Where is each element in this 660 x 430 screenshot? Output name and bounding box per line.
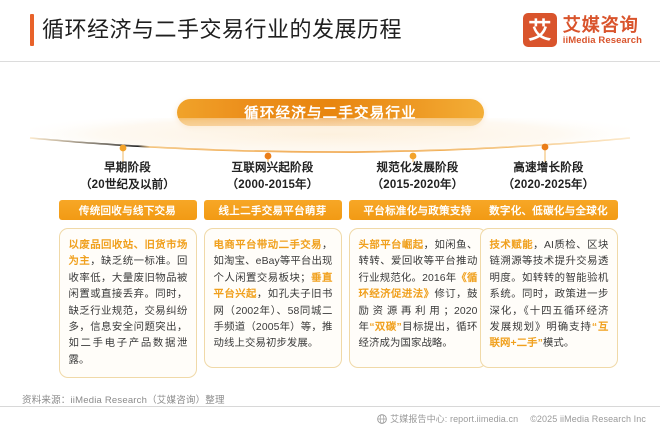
infographic-page: 循环经济与二手交易行业的发展历程 艾 艾媒咨询 iiMedia Research… bbox=[0, 0, 660, 430]
phase-name: 互联网兴起阶段 bbox=[200, 160, 345, 177]
logo-text: 艾媒咨询 iiMedia Research bbox=[563, 15, 642, 46]
phase-column-standardization: 规范化发展阶段 （2015-2020年） 平台标准化与政策支持 头部平台崛起，如… bbox=[345, 160, 490, 368]
page-header: 循环经济与二手交易行业的发展历程 艾 艾媒咨询 iiMedia Research bbox=[0, 0, 660, 62]
phase-card: 以废品回收站、旧货市场为主，缺乏统一标准。回收率低，大量废旧物品被闲置或直接丢弃… bbox=[59, 228, 197, 378]
phase-period: （20世纪及以前） bbox=[55, 177, 200, 194]
report-center-label: 艾媒报告中心: report.iimedia.cn bbox=[390, 412, 518, 425]
phase-card: 电商平台带动二手交易，如淘宝、eBay等平台出现个人闲置交易板块；垂直平台兴起，… bbox=[204, 228, 342, 368]
highlight-text: 技术赋能 bbox=[490, 240, 534, 251]
footer-meta: 艾媒报告中心: report.iimedia.cn ©2025 iiMedia … bbox=[377, 412, 646, 425]
body-text: ，缺乏统一标准。回收率低，大量废旧物品被闲置或直接丢弃。同时，缺乏行业规范，交易… bbox=[69, 256, 188, 365]
phase-name: 早期阶段 bbox=[55, 160, 200, 177]
timeline-dot bbox=[542, 144, 549, 151]
phase-card: 头部平台崛起，如闲鱼、转转、爱回收等平台推动行业规范化。2016年《循环经济促进… bbox=[349, 228, 487, 368]
phase-period: （2020-2025年） bbox=[476, 177, 621, 194]
logo-mark-icon: 艾 bbox=[523, 13, 557, 47]
page-title: 循环经济与二手交易行业的发展历程 bbox=[42, 15, 402, 45]
phase-columns: 早期阶段 （20世纪及以前） 传统回收与线下交易 以废品回收站、旧货市场为主，缺… bbox=[0, 160, 660, 375]
logo-name-en: iiMedia Research bbox=[563, 35, 642, 46]
phase-period: （2000-2015年） bbox=[200, 177, 345, 194]
copyright-label: ©2025 iiMedia Research Inc bbox=[530, 414, 646, 424]
phase-card: 技术赋能，AI质检、区块链溯源等技术提升交易透明度。如转转的智能验机系统。同时，… bbox=[480, 228, 618, 368]
source-note: 资料来源：iiMedia Research（艾媒咨询）整理 bbox=[22, 392, 225, 406]
phase-name: 规范化发展阶段 bbox=[345, 160, 490, 177]
highlight-text: 头部平台崛起 bbox=[359, 240, 424, 251]
title-accent-bar bbox=[30, 14, 34, 46]
timeline-dot bbox=[265, 153, 272, 160]
phase-tag: 传统回收与线下交易 bbox=[59, 200, 197, 220]
phase-period: （2015-2020年） bbox=[345, 177, 490, 194]
phase-tag: 线上二手交易平台萌芽 bbox=[204, 200, 342, 220]
phase-tag: 平台标准化与政策支持 bbox=[349, 200, 487, 220]
footer-divider bbox=[0, 406, 660, 407]
report-center-link[interactable]: 艾媒报告中心: report.iimedia.cn bbox=[377, 412, 518, 425]
body-text: 模式。 bbox=[543, 338, 574, 349]
phase-name: 高速增长阶段 bbox=[476, 160, 621, 177]
body-text: ，AI质检、区块链溯源等技术提升交易透明度。如转转的智能验机系统。同时，政策进一… bbox=[490, 240, 609, 333]
logo-name-cn: 艾媒咨询 bbox=[563, 15, 642, 35]
highlight-text: “双碳” bbox=[369, 322, 402, 333]
brand-logo: 艾 艾媒咨询 iiMedia Research bbox=[523, 13, 642, 47]
timeline-dot bbox=[410, 153, 417, 160]
phase-column-internet: 互联网兴起阶段 （2000-2015年） 线上二手交易平台萌芽 电商平台带动二手… bbox=[200, 160, 345, 368]
phase-column-early: 早期阶段 （20世纪及以前） 传统回收与线下交易 以废品回收站、旧货市场为主，缺… bbox=[55, 160, 200, 378]
header-divider bbox=[0, 61, 660, 62]
phase-tag: 数字化、低碳化与全球化 bbox=[480, 200, 618, 220]
globe-icon bbox=[377, 414, 387, 424]
timeline-dot bbox=[120, 145, 127, 152]
phase-column-growth: 高速增长阶段 （2020-2025年） 数字化、低碳化与全球化 技术赋能，AI质… bbox=[476, 160, 621, 368]
highlight-text: 电商平台带动二手交易 bbox=[214, 240, 323, 251]
